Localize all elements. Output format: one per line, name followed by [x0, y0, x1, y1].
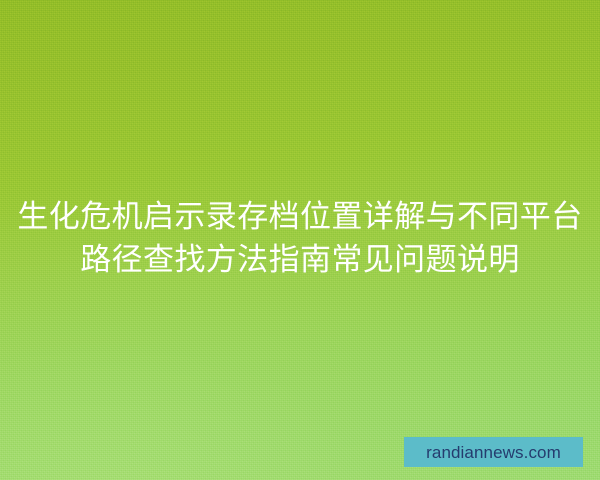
- watermark-badge: randiannews.com: [404, 437, 583, 467]
- headline-line-2: 路径查找方法指南常见问题说明: [0, 238, 600, 281]
- watermark-site-label: randiannews.com: [426, 444, 561, 461]
- headline-line-1: 生化危机启示录存档位置详解与不同平台: [0, 195, 600, 238]
- banner-headline: 生化危机启示录存档位置详解与不同平台 路径查找方法指南常见问题说明: [0, 195, 600, 281]
- article-banner-image: 生化危机启示录存档位置详解与不同平台 路径查找方法指南常见问题说明 randia…: [0, 0, 600, 480]
